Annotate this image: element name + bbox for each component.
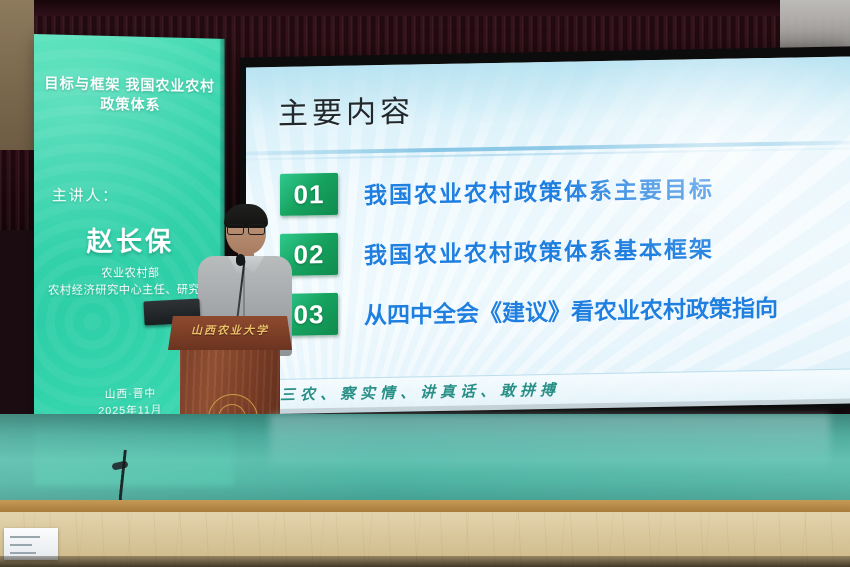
banner-org-line-2: 农村经济研究中心主任、研究员 [40,282,219,300]
foreground-shadow [0,556,850,567]
banner-organization: 农业农村部 农村经济研究中心主任、研究员 [40,265,219,300]
projector-glare [540,56,850,272]
slide-item-text: 从四中全会《建议》看农业农村政策指向 [364,289,778,331]
glasses-icon [227,224,265,233]
conference-hall-photo: 主要内容 01 我国农业农村政策体系主要目标 02 我国农业农村政策体系基本框架… [0,0,850,567]
banner-speaker-name: 赵长保 [44,220,215,259]
projection-screen: 主要内容 01 我国农业农村政策体系主要目标 02 我国农业农村政策体系基本框架… [246,56,850,409]
placard-line [10,544,32,546]
placard-line [10,552,36,554]
stage-edge-trim [0,500,850,512]
banner-host-label: 主讲人： [44,184,223,206]
wall-left [0,0,34,150]
list-item: 03 从四中全会《建议》看农业农村政策指向 [280,281,840,339]
banner-title: 目标与框架 我国农业农村政策体系 [44,74,215,117]
slide-title: 主要内容 [278,86,414,132]
lectern-university-name: 山西农业大学 [168,322,292,338]
lectern-top: 山西农业大学 [168,316,292,350]
placard-line [10,536,40,538]
banner-org-line-1: 农业农村部 [40,265,219,283]
microphone-icon [236,254,245,266]
calligraphy-text: 爱三农、察实情、讲真话、敢拼搏 [260,379,560,405]
curtain-valance [0,0,850,16]
